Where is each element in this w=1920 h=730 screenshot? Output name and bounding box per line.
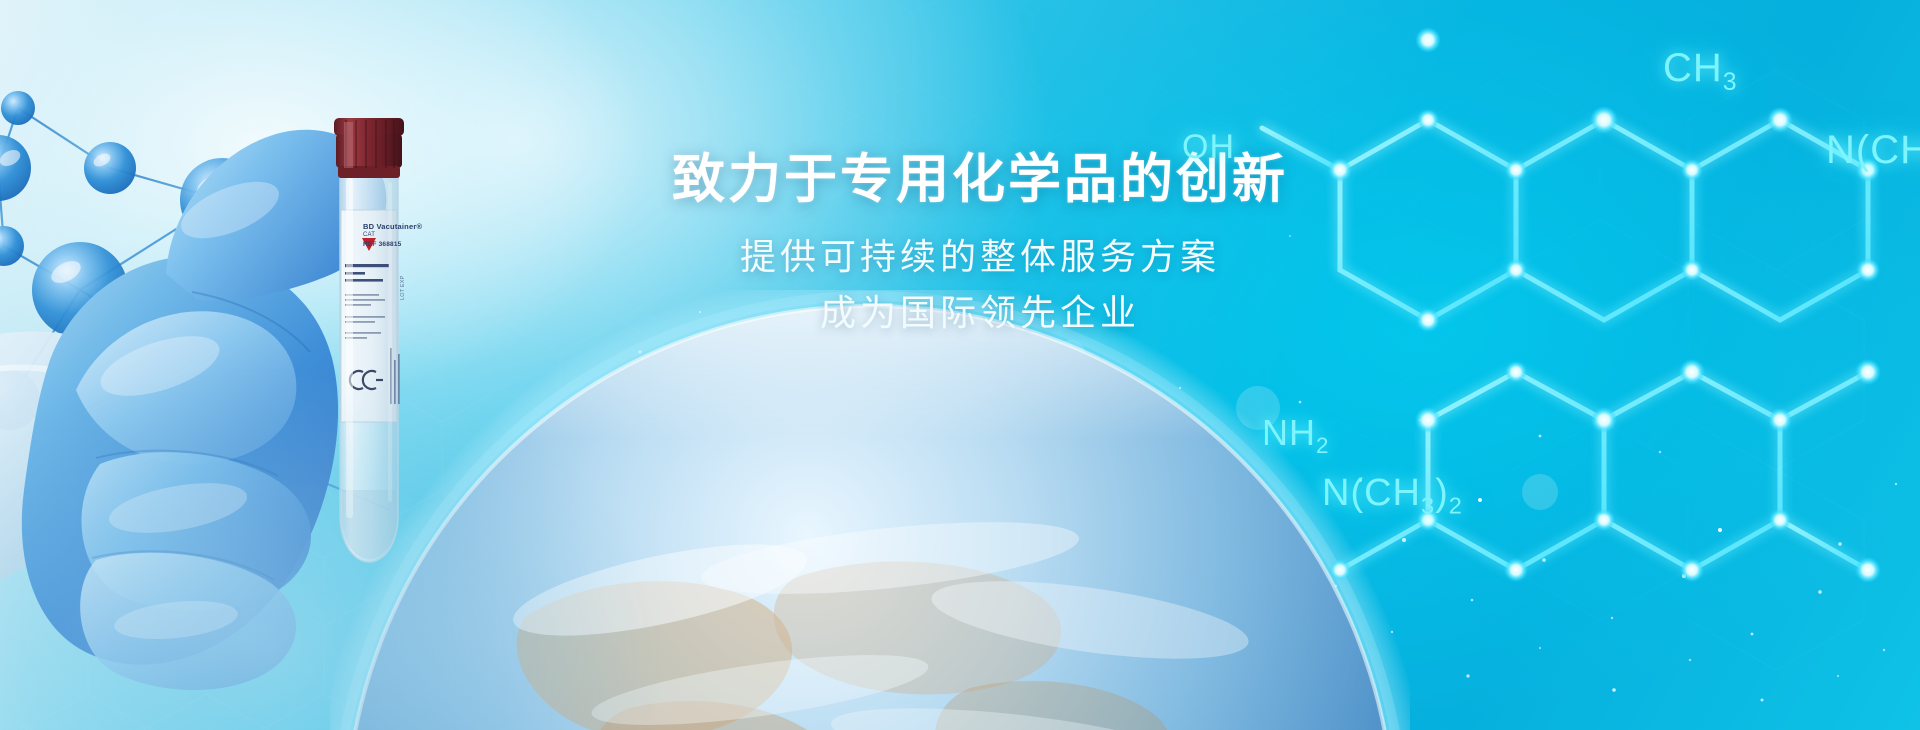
chem-label-nch3-2: N(CH3)2: [1322, 472, 1463, 520]
chem-label-oh: OH: [1182, 128, 1235, 167]
chem-label-ch3: CH3: [1663, 46, 1738, 97]
chem-label-nh2: NH2: [1262, 412, 1329, 459]
chem-label-nch3-top: N(CH: [1826, 128, 1920, 173]
hexagon-mesh-right: [0, 0, 1920, 730]
hero-banner: BD Vacutainer® CAT REF 368815 LOT EXP: [0, 0, 1920, 730]
